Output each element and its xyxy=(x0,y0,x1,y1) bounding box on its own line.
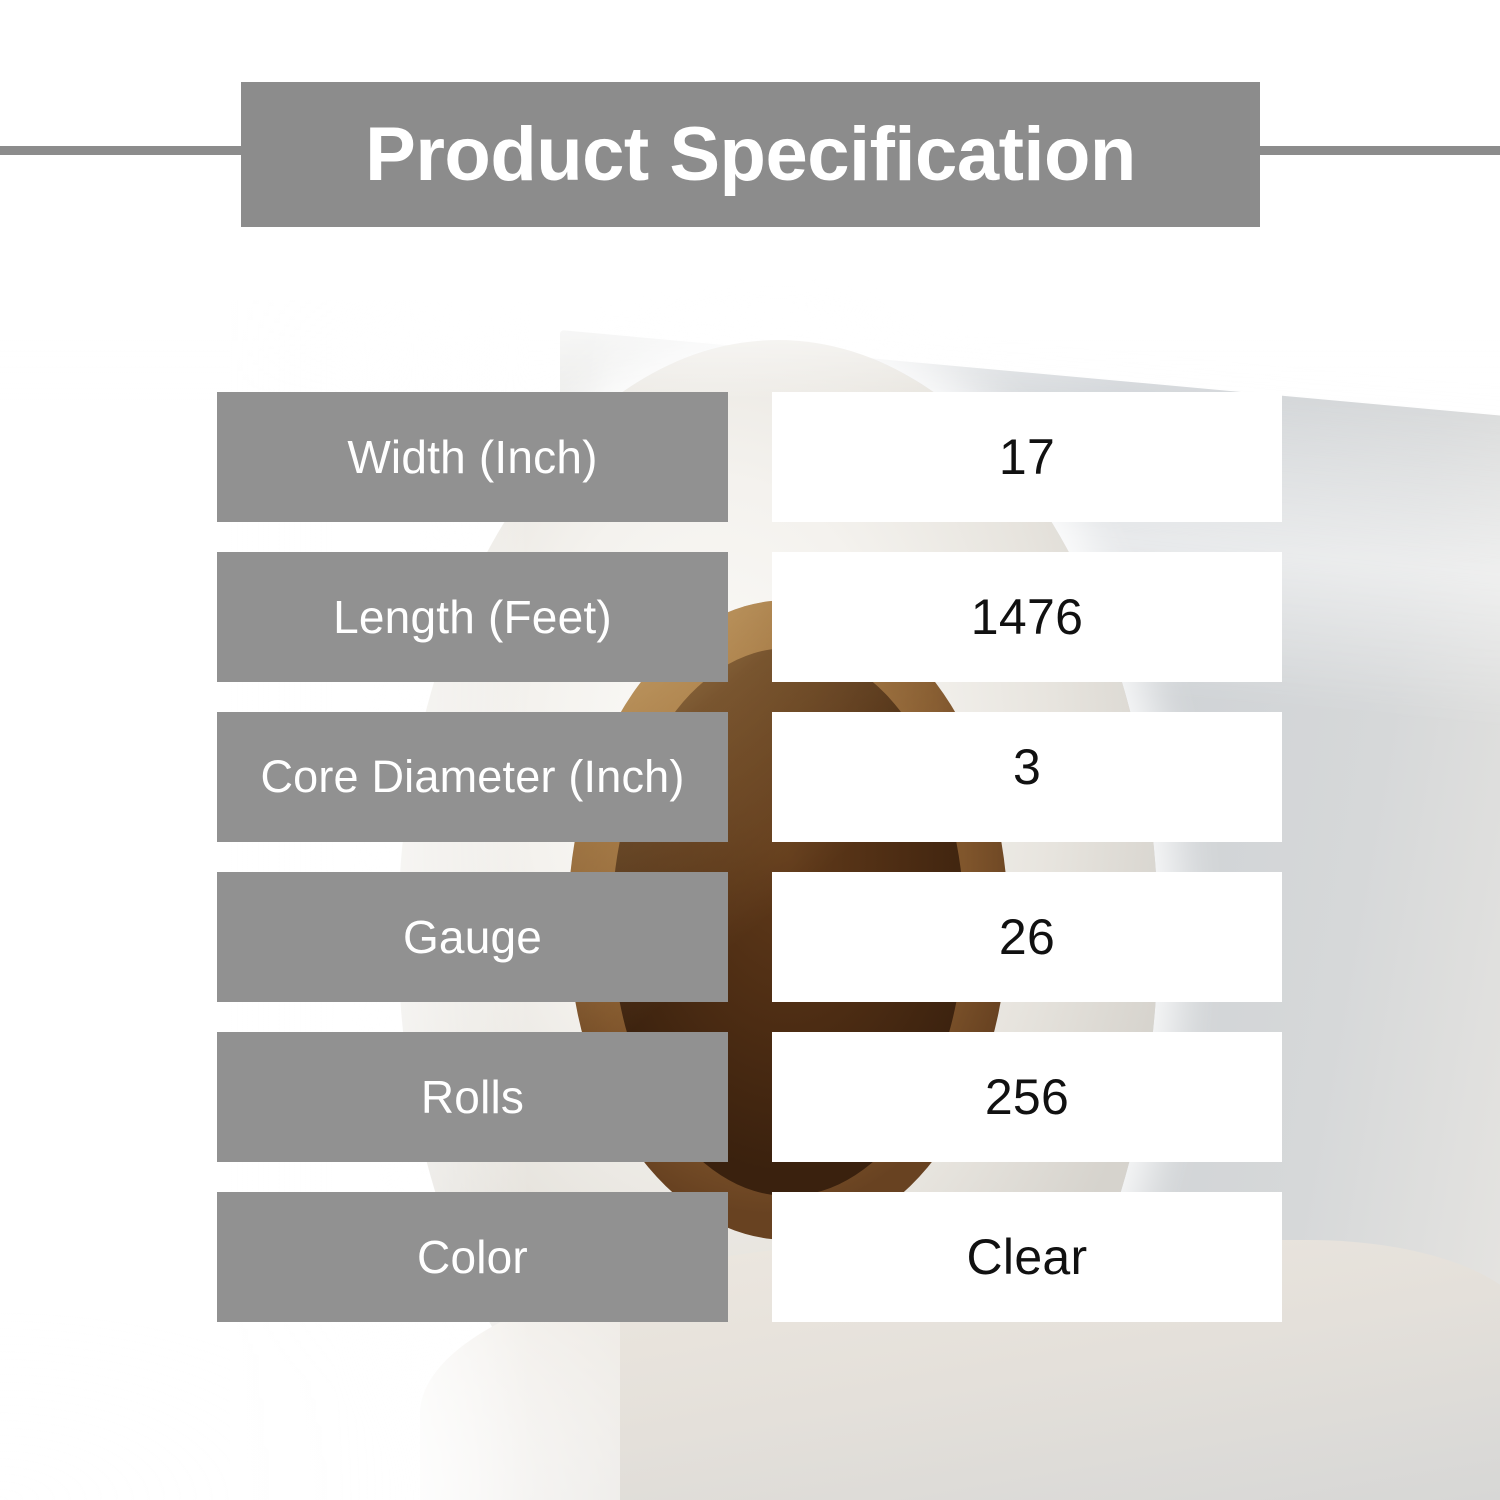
table-row: Core Diameter (Inch) 3 xyxy=(0,712,1500,842)
spec-label-cell: Width (Inch) xyxy=(217,392,728,522)
spec-label-cell: Core Diameter (Inch) xyxy=(217,712,728,842)
spec-label-cell: Rolls xyxy=(217,1032,728,1162)
spec-label-cell: Length (Feet) xyxy=(217,552,728,682)
table-row: Rolls 256 xyxy=(0,1032,1500,1162)
product-specification-page: Product Specification Width (Inch) 17 Le… xyxy=(0,0,1500,1500)
spec-label-text: Width (Inch) xyxy=(347,434,597,481)
spec-value-text: 3 xyxy=(1013,742,1041,792)
table-row: Width (Inch) 17 xyxy=(0,392,1500,522)
table-row: Color Clear xyxy=(0,1192,1500,1322)
photo-fade-top xyxy=(0,240,1500,400)
spec-value-text: Clear xyxy=(967,1232,1088,1282)
spec-value-cell: 17 xyxy=(772,392,1282,522)
spec-value-text: 26 xyxy=(999,912,1055,962)
spec-value-text: 256 xyxy=(985,1072,1069,1122)
spec-label-text: Rolls xyxy=(421,1074,524,1121)
spec-label-text: Color xyxy=(417,1234,528,1281)
spec-value-cell: 1476 xyxy=(772,552,1282,682)
spec-label-text: Core Diameter (Inch) xyxy=(260,754,684,801)
spec-value-cell: 26 xyxy=(772,872,1282,1002)
spec-label-text: Length (Feet) xyxy=(333,594,612,641)
spec-value-text: 17 xyxy=(999,432,1055,482)
title-banner: Product Specification xyxy=(241,82,1260,227)
spec-label-cell: Gauge xyxy=(217,872,728,1002)
spec-value-cell: 256 xyxy=(772,1032,1282,1162)
table-row: Gauge 26 xyxy=(0,872,1500,1002)
table-row: Length (Feet) 1476 xyxy=(0,552,1500,682)
spec-value-cell: Clear xyxy=(772,1192,1282,1322)
spec-value-cell: 3 xyxy=(772,712,1282,842)
spec-value-text: 1476 xyxy=(971,592,1083,642)
specification-table: Width (Inch) 17 Length (Feet) 1476 Core … xyxy=(0,392,1500,1352)
page-title: Product Specification xyxy=(365,117,1136,193)
spec-label-cell: Color xyxy=(217,1192,728,1322)
spec-label-text: Gauge xyxy=(403,914,542,961)
